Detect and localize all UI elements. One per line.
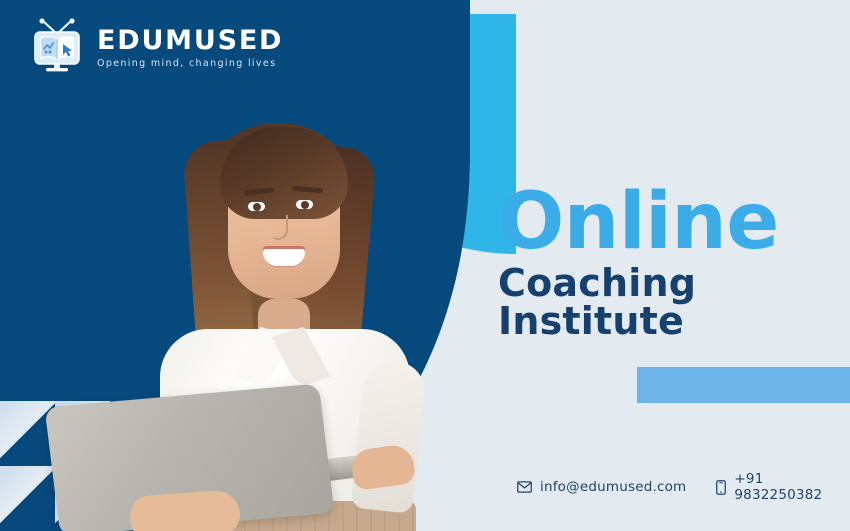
contact-email-text: info@edumused.com (540, 479, 686, 495)
pupil-right (301, 201, 309, 209)
eye-right (296, 200, 313, 209)
tv-open-book-icon (28, 18, 86, 76)
headline-block: Online Coaching Institute (498, 188, 850, 340)
blue-accent-bar (637, 367, 850, 403)
contact-phone-text: +91 9832250382 (734, 471, 850, 503)
hair-top (220, 127, 348, 219)
brand-tagline: Opening mind, changing lives (97, 58, 283, 69)
brand-logo[interactable]: EDUMUSED Opening mind, changing lives (28, 18, 283, 76)
pupil-left (253, 203, 261, 211)
hero-person-image (30, 61, 450, 531)
brand-text-block: EDUMUSED Opening mind, changing lives (97, 25, 283, 69)
contact-row: info@edumused.com +91 9832250382 (517, 471, 850, 503)
mouth-smile (263, 249, 305, 266)
brand-name: EDUMUSED (97, 27, 283, 55)
left-hand-holding (129, 489, 242, 531)
envelope-icon (517, 481, 532, 493)
nose (273, 215, 288, 240)
contact-email[interactable]: info@edumused.com (517, 479, 686, 495)
eye-left (248, 202, 265, 211)
headline-line-2: Coaching Institute (498, 264, 850, 340)
headline-line-1: Online (498, 188, 850, 257)
mobile-phone-icon (716, 480, 726, 495)
contact-phone[interactable]: +91 9832250382 (716, 471, 850, 503)
promo-banner: EDUMUSED Opening mind, changing lives On… (0, 0, 850, 531)
